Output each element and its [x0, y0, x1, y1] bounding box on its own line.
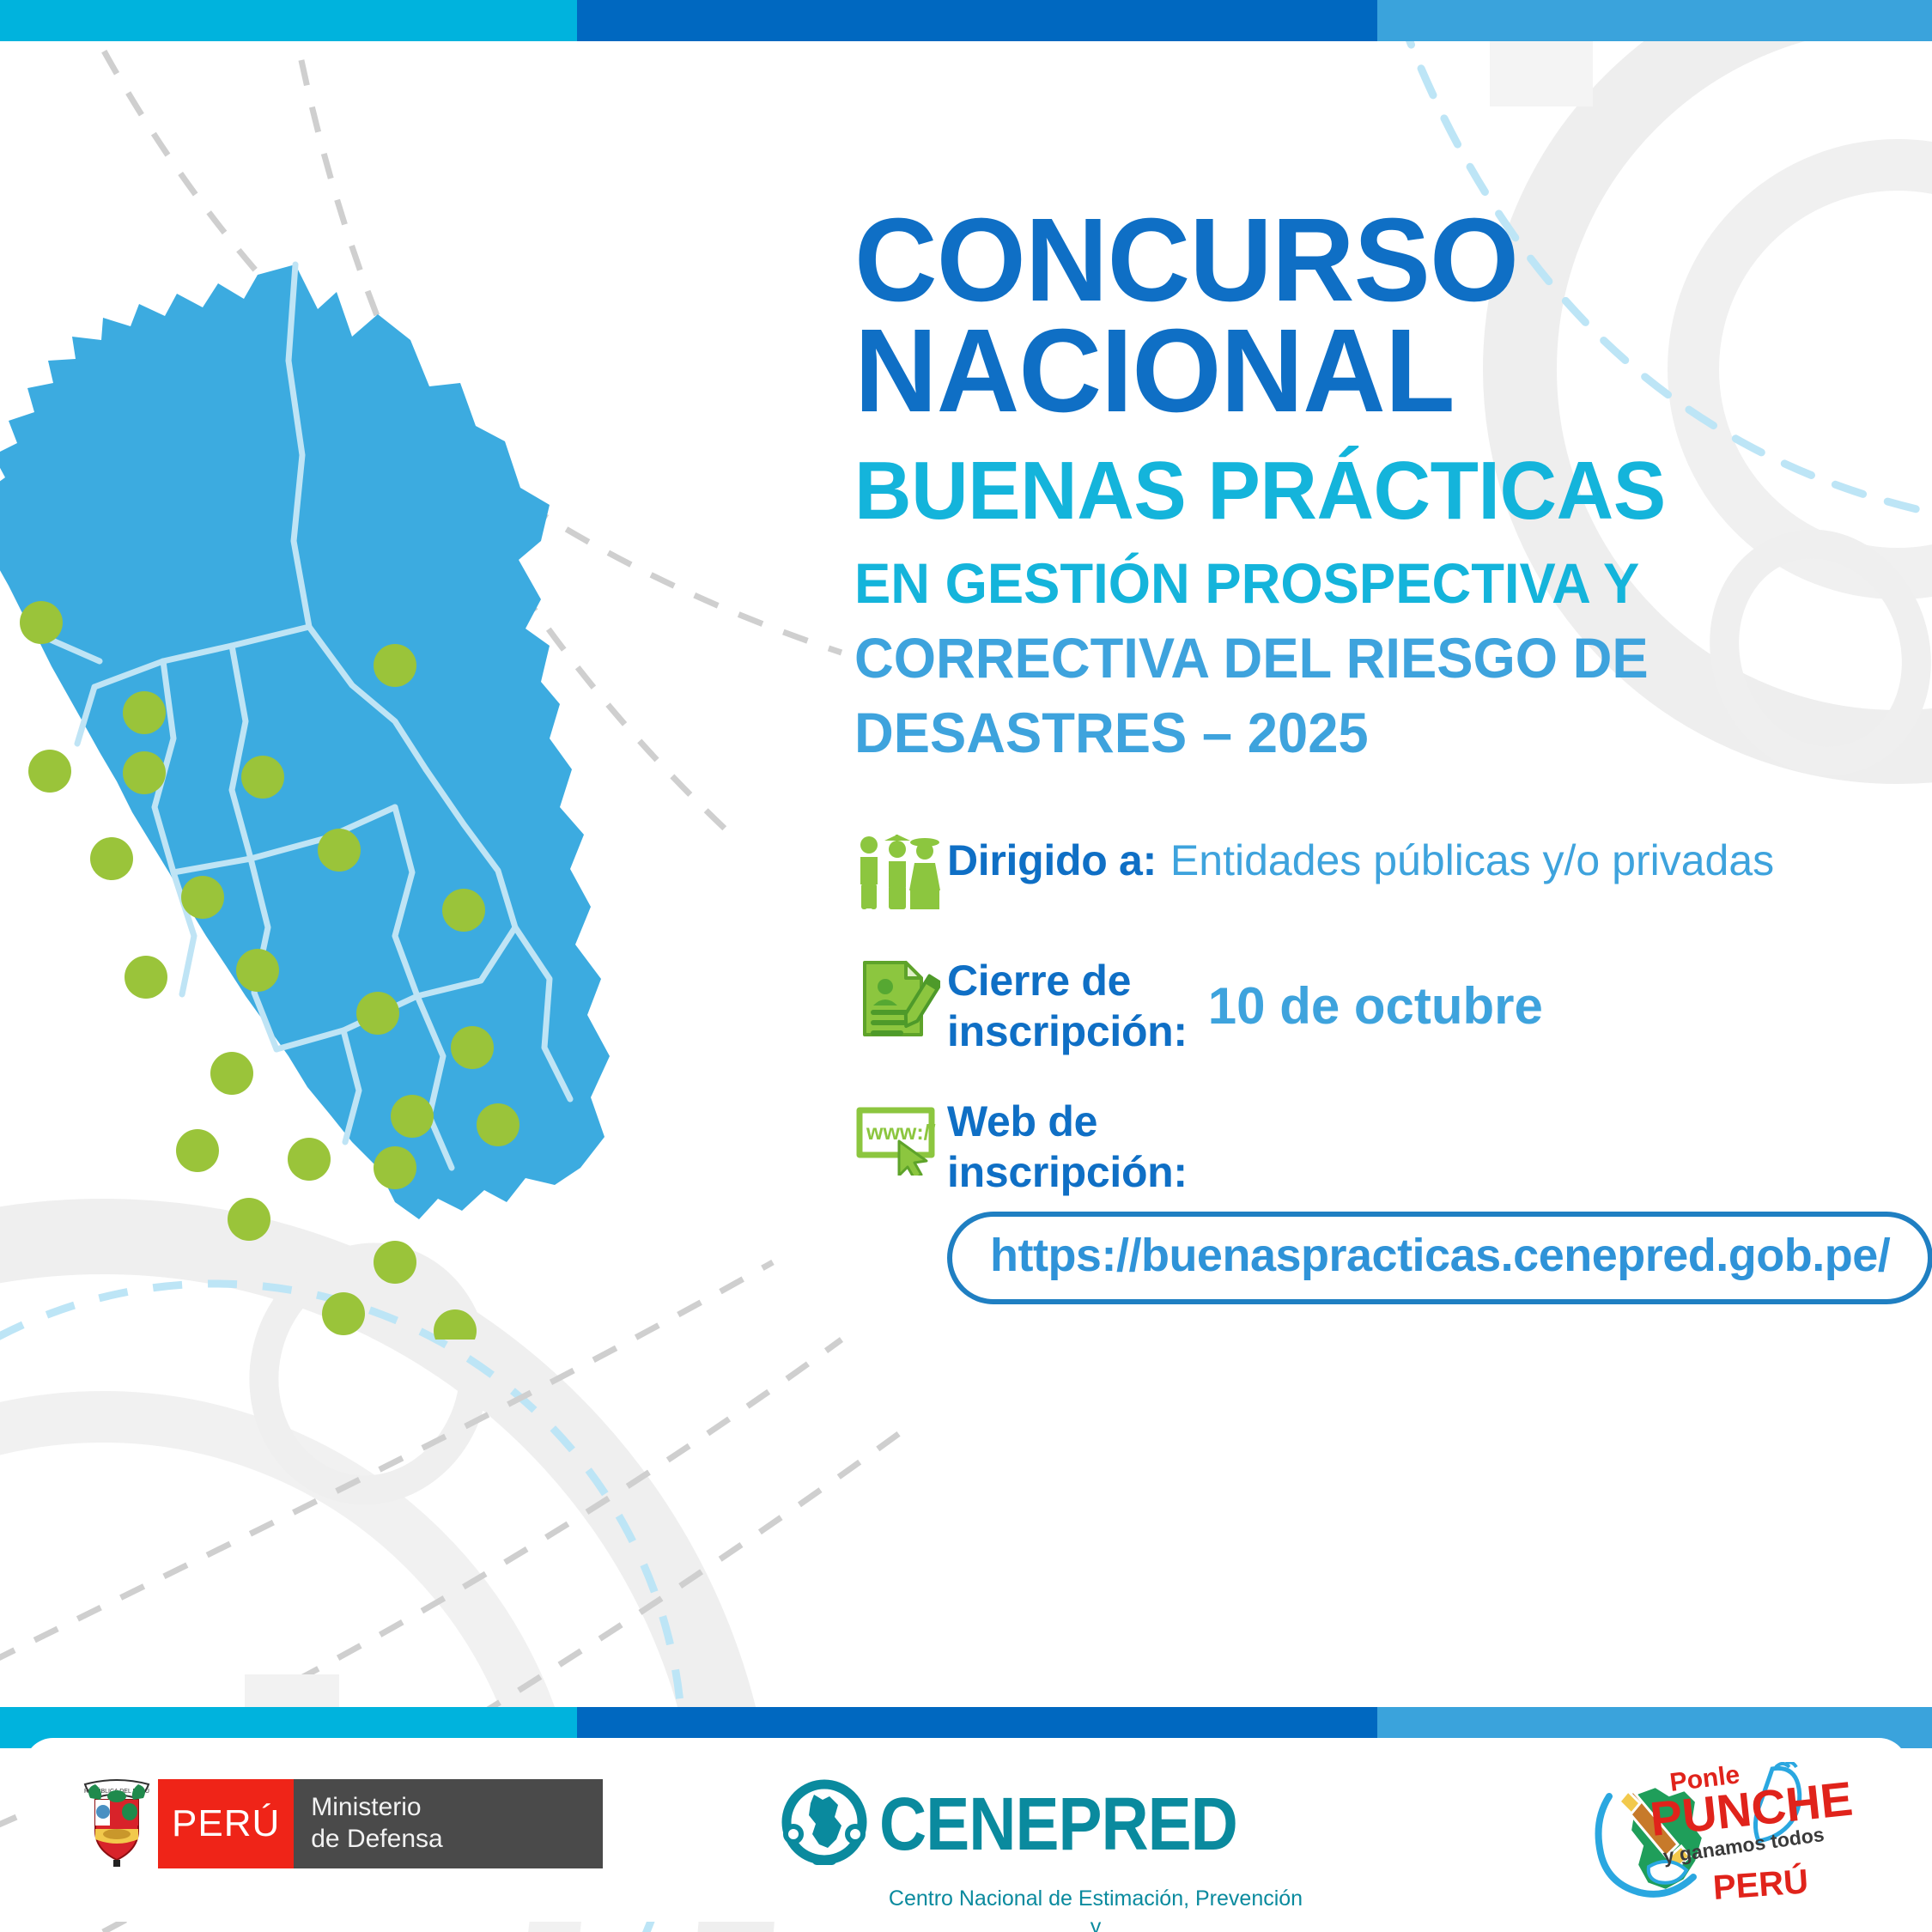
- cenepred-globe-peru-icon: [780, 1777, 869, 1871]
- deadline-label-line2: inscripción:: [947, 1006, 1188, 1057]
- audience-value: Entidades públicas y/o privadas: [1170, 835, 1774, 886]
- ministry-name-line2: de Defensa: [311, 1824, 584, 1856]
- poster-canvas: CONCURSO NACIONAL BUENAS PRÁCTICAS EN GE…: [0, 0, 1932, 1932]
- bar-segment-cyan: [0, 0, 577, 41]
- registration-url[interactable]: https://buenaspracticas.cenepred.gob.pe/: [990, 1230, 1890, 1281]
- content-column: CONCURSO NACIONAL BUENAS PRÁCTICAS EN GE…: [854, 206, 1876, 1304]
- people-group-icon: [854, 830, 947, 916]
- headline-line-3: BUENAS PRÁCTICAS: [854, 450, 1835, 532]
- headline-line-4: EN GESTIÓN PROSPECTIVA Y: [854, 546, 1835, 621]
- info-row-website: www:// Web de inscripción:: [854, 1097, 1876, 1198]
- headline-line-5: CORRECTIVA DEL RIESGO DE: [854, 621, 1835, 696]
- headline-line-1: CONCURSO: [854, 206, 1845, 315]
- ministry-name: Ministerio de Defensa: [294, 1779, 603, 1868]
- headline-line-6: DESASTRES – 2025: [854, 696, 1835, 770]
- info-row-deadline: Cierre de inscripción: 10 de octubre: [854, 956, 1876, 1057]
- registration-url-box[interactable]: https://buenaspracticas.cenepred.gob.pe/: [947, 1212, 1932, 1304]
- deadline-value: 10 de octubre: [1208, 976, 1543, 1037]
- www-cursor-icon: www://: [854, 1097, 947, 1176]
- cenepred-logo: CENEPRED Centro Nacional de Estimación, …: [780, 1777, 1310, 1932]
- audience-label: Dirigido a:: [947, 835, 1157, 886]
- peru-regions-map: [0, 258, 807, 1340]
- ministry-logo: REPÚBLICA DEL PERÚ PERÚ: [76, 1779, 603, 1875]
- website-label-line2: inscripción:: [947, 1147, 1188, 1198]
- website-label-line1: Web de: [947, 1097, 1188, 1147]
- bar-segment-blue: [577, 0, 1377, 41]
- footer-panel: REPÚBLICA DEL PERÚ PERÚ: [24, 1738, 1908, 1922]
- info-list: Dirigido a: Entidades públicas y/o priva…: [854, 830, 1876, 1304]
- bar-segment-light-blue: [1377, 0, 1932, 41]
- ponle-punche-word4: PERÚ: [1711, 1861, 1809, 1907]
- headline-line-2: NACIONAL: [854, 315, 1845, 428]
- cenepred-subtitle-line1: Centro Nacional de Estimación, Prevenció…: [881, 1885, 1310, 1932]
- cenepred-subtitle: Centro Nacional de Estimación, Prevenció…: [881, 1885, 1310, 1932]
- ponle-punche-logo: Ponle PUNCHE y ganamos todos PERÚ: [1570, 1762, 1853, 1925]
- ministry-name-line1: Ministerio: [311, 1792, 584, 1824]
- info-row-audience: Dirigido a: Entidades públicas y/o priva…: [854, 830, 1876, 916]
- document-pencil-icon: [854, 956, 947, 1042]
- cenepred-acronym: CENEPRED: [879, 1781, 1237, 1868]
- ministry-country-label: PERÚ: [158, 1779, 294, 1868]
- top-color-bar: [0, 0, 1932, 41]
- peru-coat-of-arms-icon: REPÚBLICA DEL PERÚ: [76, 1779, 158, 1868]
- deadline-label-line1: Cierre de: [947, 956, 1188, 1006]
